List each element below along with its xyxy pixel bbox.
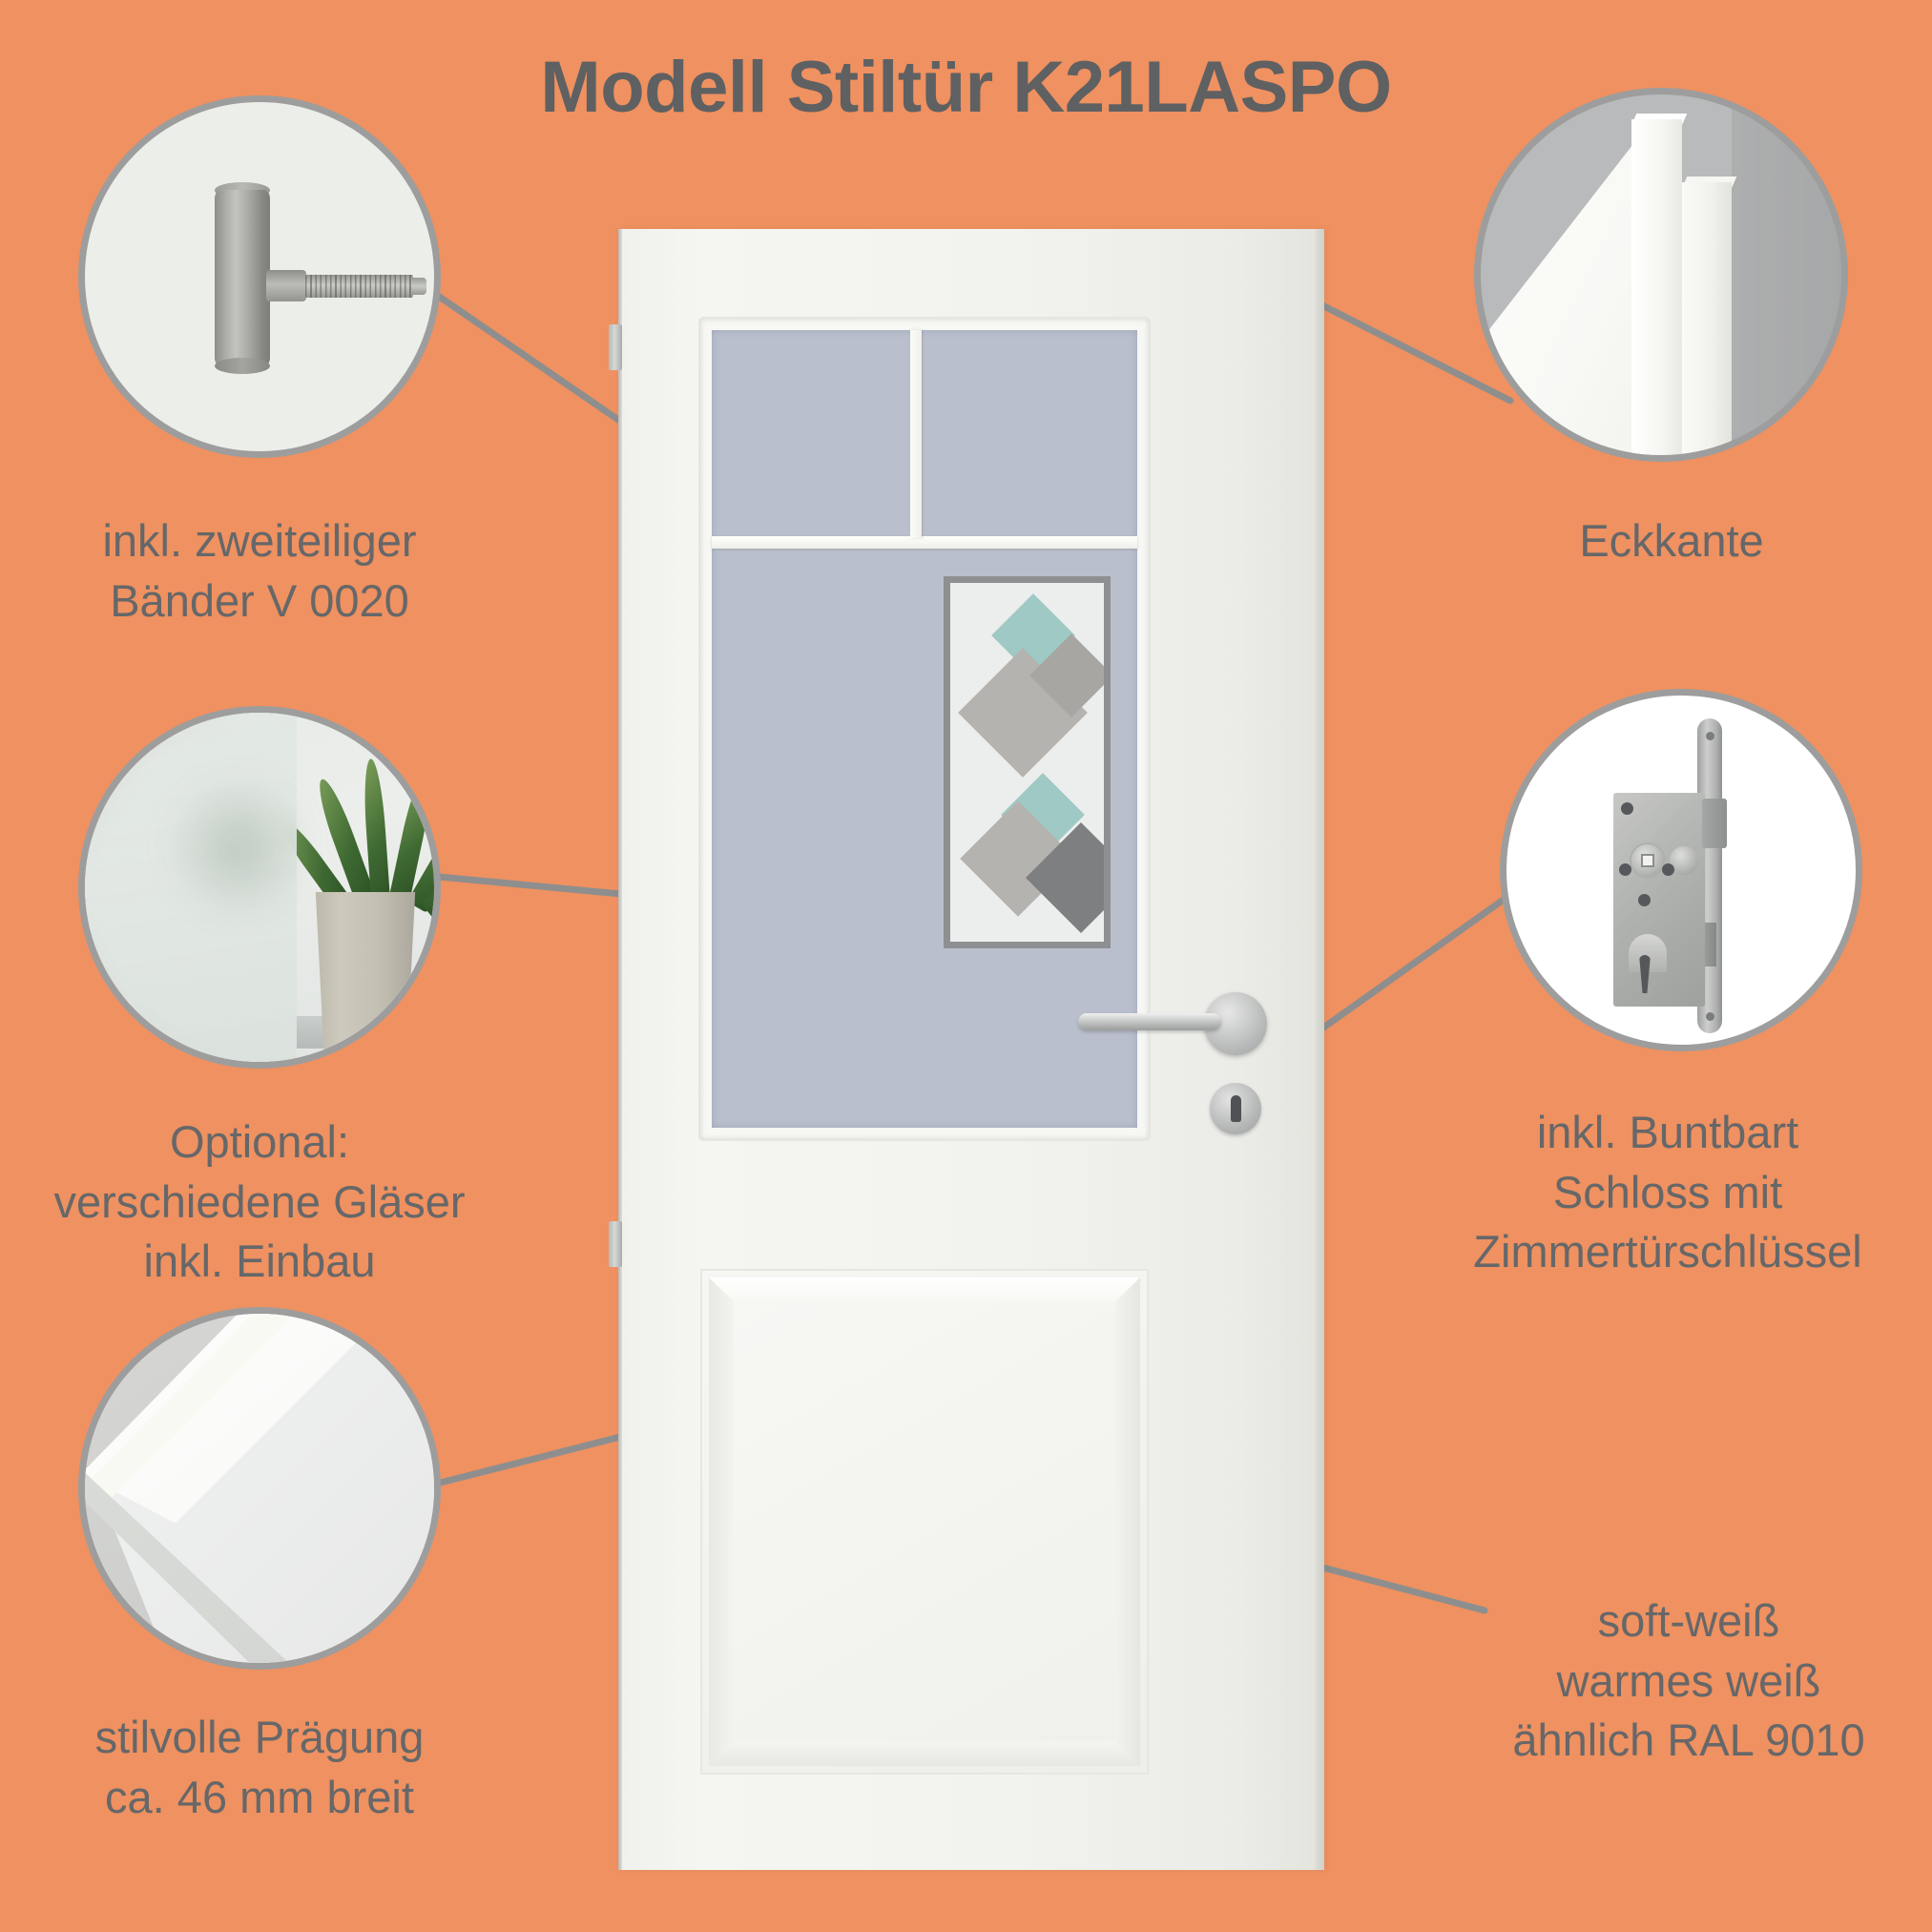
artwork-canvas	[950, 583, 1104, 942]
lock-screw	[1638, 894, 1651, 906]
panel-field	[734, 1302, 1115, 1741]
plant-pot	[310, 892, 421, 1064]
infographic-canvas: Modell Stiltür K21LASPO	[0, 0, 1932, 1932]
glass-mullion-vertical	[910, 330, 922, 538]
door-hinge-edge	[618, 229, 622, 1870]
feature-circle-glass	[78, 706, 441, 1069]
hinge-upper-icon	[609, 324, 622, 370]
caption-lock: inkl. Buntbart Schloss mit Zimmertürschl…	[1429, 1103, 1906, 1282]
callout-line-lock	[1319, 897, 1507, 1030]
panel-bevel	[709, 1278, 1140, 1766]
callout-line-hinge	[410, 277, 618, 420]
caption-moulding: stilvolle Prägung ca. 46 mm breit	[50, 1708, 469, 1827]
hinge-pin-body	[215, 190, 270, 366]
lock-screw	[1621, 802, 1633, 815]
panel-bevel-right	[1115, 1278, 1140, 1766]
feature-circle-hinge	[78, 95, 441, 458]
frosted-glass-overlay	[85, 713, 297, 1069]
caption-glass: Optional: verschiedene Gläser inkl. Einb…	[50, 1112, 469, 1292]
panel-bevel-bottom	[709, 1741, 1140, 1766]
lock-faceplate-screwhole-top	[1706, 732, 1714, 740]
glass-mullion-horizontal	[712, 536, 1137, 549]
panel-bevel-top	[709, 1278, 1140, 1302]
lock-spindle-square	[1641, 854, 1654, 867]
door-handle-icon	[1078, 1013, 1221, 1030]
lock-case	[1613, 793, 1705, 1007]
caption-hinge: inkl. zweiteiliger Bänder V 0020	[57, 511, 462, 631]
hinge-pin-bottom	[215, 358, 270, 374]
lock-dead-bolt	[1705, 923, 1716, 966]
feature-circle-moulding	[78, 1307, 441, 1670]
edge-slab-two	[1682, 182, 1732, 462]
door-lock-edge	[1315, 229, 1324, 1870]
edge-slab-one	[1631, 119, 1682, 462]
panel-bevel-left	[709, 1278, 734, 1766]
hinge-pin-thread	[305, 275, 413, 298]
background-artwork	[944, 576, 1111, 948]
door-illustration	[618, 229, 1324, 1870]
lock-screw	[1662, 863, 1674, 876]
keyhole-icon	[1231, 1095, 1241, 1122]
edge-shadow	[1732, 94, 1848, 462]
hinge-lower-icon	[609, 1221, 622, 1267]
door-bottom-panel	[700, 1269, 1149, 1775]
lock-faceplate-screwhole-bottom	[1706, 1012, 1714, 1021]
hinge-pin-tip	[412, 278, 426, 295]
hinge-pin-collar	[266, 270, 306, 301]
lock-latch-bolt	[1702, 799, 1727, 848]
feature-circle-edge	[1474, 88, 1848, 462]
frosted-glass-blur-blob	[167, 776, 310, 919]
lock-screw	[1619, 863, 1631, 876]
caption-edge: Eckkante	[1469, 511, 1874, 571]
edge-face	[1474, 119, 1652, 462]
caption-colour: soft-weiß warmes weiß ähnlich RAL 9010	[1469, 1591, 1908, 1771]
feature-circle-lock	[1500, 689, 1862, 1051]
